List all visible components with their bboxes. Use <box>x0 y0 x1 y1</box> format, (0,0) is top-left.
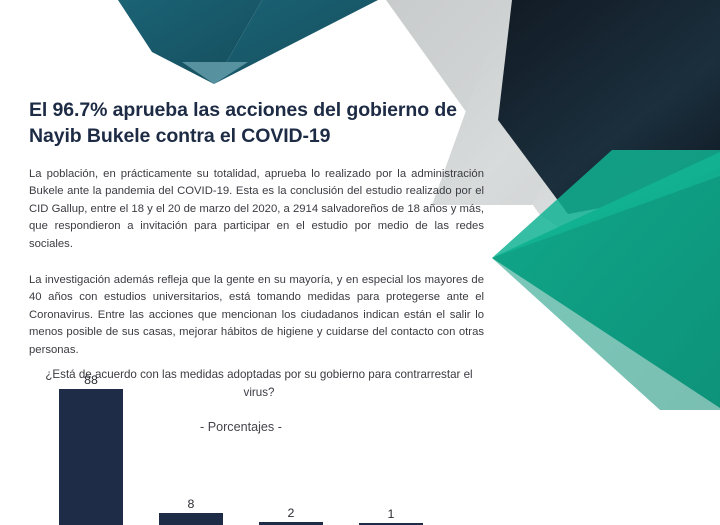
chart-bar-value-label: 1 <box>359 507 423 521</box>
chart-bar-group: 2 <box>229 428 329 525</box>
page-title: El 96.7% aprueba las acciones del gobier… <box>29 97 459 149</box>
chart-bar-group: 1 <box>329 428 429 525</box>
chart-bar-value-label: 8 <box>159 497 223 511</box>
teal-tip-triangle <box>182 62 248 84</box>
chart-bar <box>159 513 223 525</box>
chart-bar-group: 88 <box>29 428 129 525</box>
slide-canvas: El 96.7% aprueba las acciones del gobier… <box>0 0 720 525</box>
chart-bar-value-label: 2 <box>259 506 323 520</box>
navy-wedge-shape <box>498 0 720 214</box>
body-paragraph-2: La investigación además refleja que la g… <box>29 272 484 359</box>
green-chevron-upper <box>492 152 720 408</box>
chart-bar-group: 8 <box>129 428 229 525</box>
teal-chevron-shape-right <box>214 0 378 84</box>
green-chevron-lower <box>492 168 720 410</box>
chart-bar <box>59 389 123 525</box>
teal-chevron-shape <box>118 0 262 84</box>
chart-bar-value-label: 88 <box>59 373 123 387</box>
body-paragraph-1: La población, en prácticamente su totali… <box>29 166 484 253</box>
chart-plot-area: 88821 <box>29 428 489 525</box>
chart-container: ¿Está de acuerdo con las medidas adoptad… <box>29 366 489 525</box>
green-chevron-tip <box>492 150 720 258</box>
